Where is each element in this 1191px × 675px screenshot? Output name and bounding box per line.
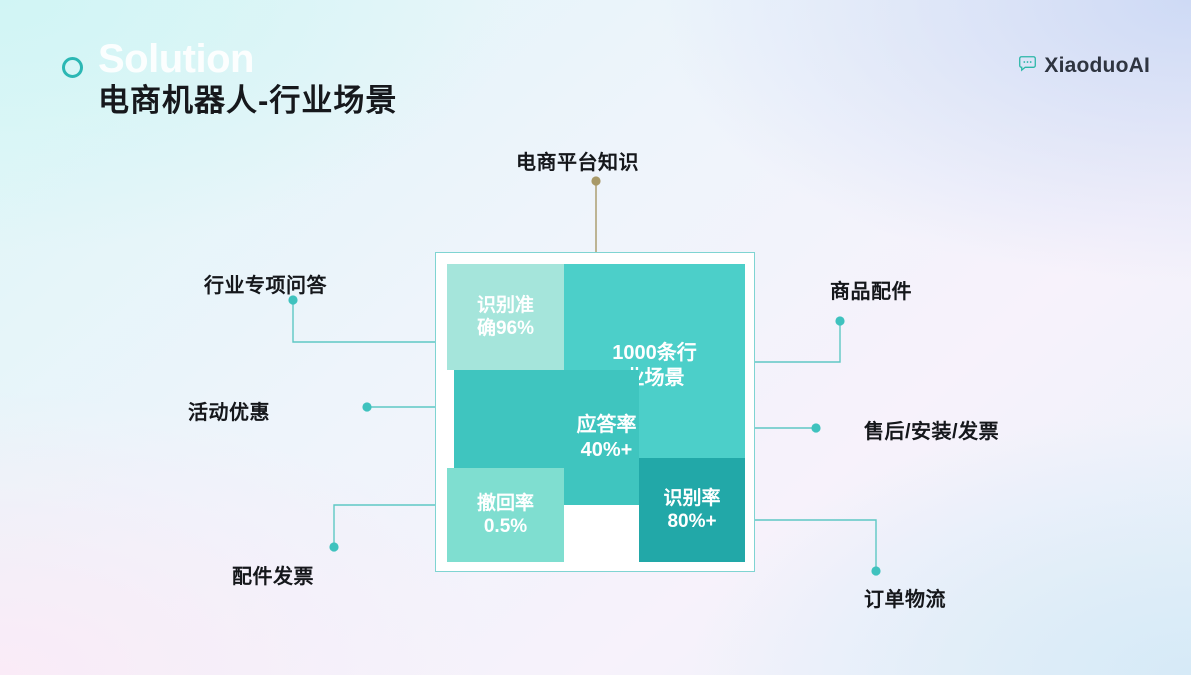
block-recall-line1: 撤回率 [477, 492, 534, 515]
block-accuracy-line2: 确96% [477, 317, 534, 340]
brand-logo: XiaoduoAI [1018, 54, 1150, 78]
label-platform-knowledge: 电商平台知识 [516, 146, 639, 175]
header-ring-icon [62, 57, 83, 78]
label-product-parts: 商品配件 [830, 275, 912, 304]
mosaic-grid: 识别准 确96% 1000条行 业场景 应答率 40%+ 撤回率 0.5% 识别… [447, 264, 743, 560]
chat-bubble-icon [1018, 54, 1037, 78]
page-title: 电商机器人-行业场景 [98, 75, 397, 120]
mosaic-block-recall: 撤回率 0.5% [447, 468, 564, 562]
connector-industryqa [288, 295, 455, 342]
mosaic-block-recognition: 识别率 80%+ [639, 458, 745, 562]
block-accuracy-line1: 识别准 [477, 294, 534, 317]
brand-name: XiaoduoAI [1044, 54, 1150, 78]
connector-logistics [735, 520, 881, 576]
block-response-line1: 应答率 [577, 413, 637, 437]
block-recall-line2: 0.5% [484, 515, 527, 538]
label-industry-qa: 行业专项问答 [204, 269, 327, 298]
label-parts-invoice: 配件发票 [232, 560, 314, 589]
mosaic-block-accuracy: 识别准 确96% [447, 264, 564, 370]
diagram-frame: 识别准 确96% 1000条行 业场景 应答率 40%+ 撤回率 0.5% 识别… [435, 252, 755, 572]
block-recognition-line1: 识别率 [663, 487, 720, 510]
label-promotion: 活动优惠 [188, 396, 270, 425]
label-order-logistics: 订单物流 [864, 583, 946, 612]
label-aftersales: 售后/安装/发票 [864, 415, 999, 444]
block-recognition-line2: 80%+ [667, 510, 716, 533]
block-response-line2: 40%+ [577, 438, 637, 462]
connector-platform [591, 176, 600, 252]
block-scenarios-line1: 1000条行 [612, 341, 697, 365]
